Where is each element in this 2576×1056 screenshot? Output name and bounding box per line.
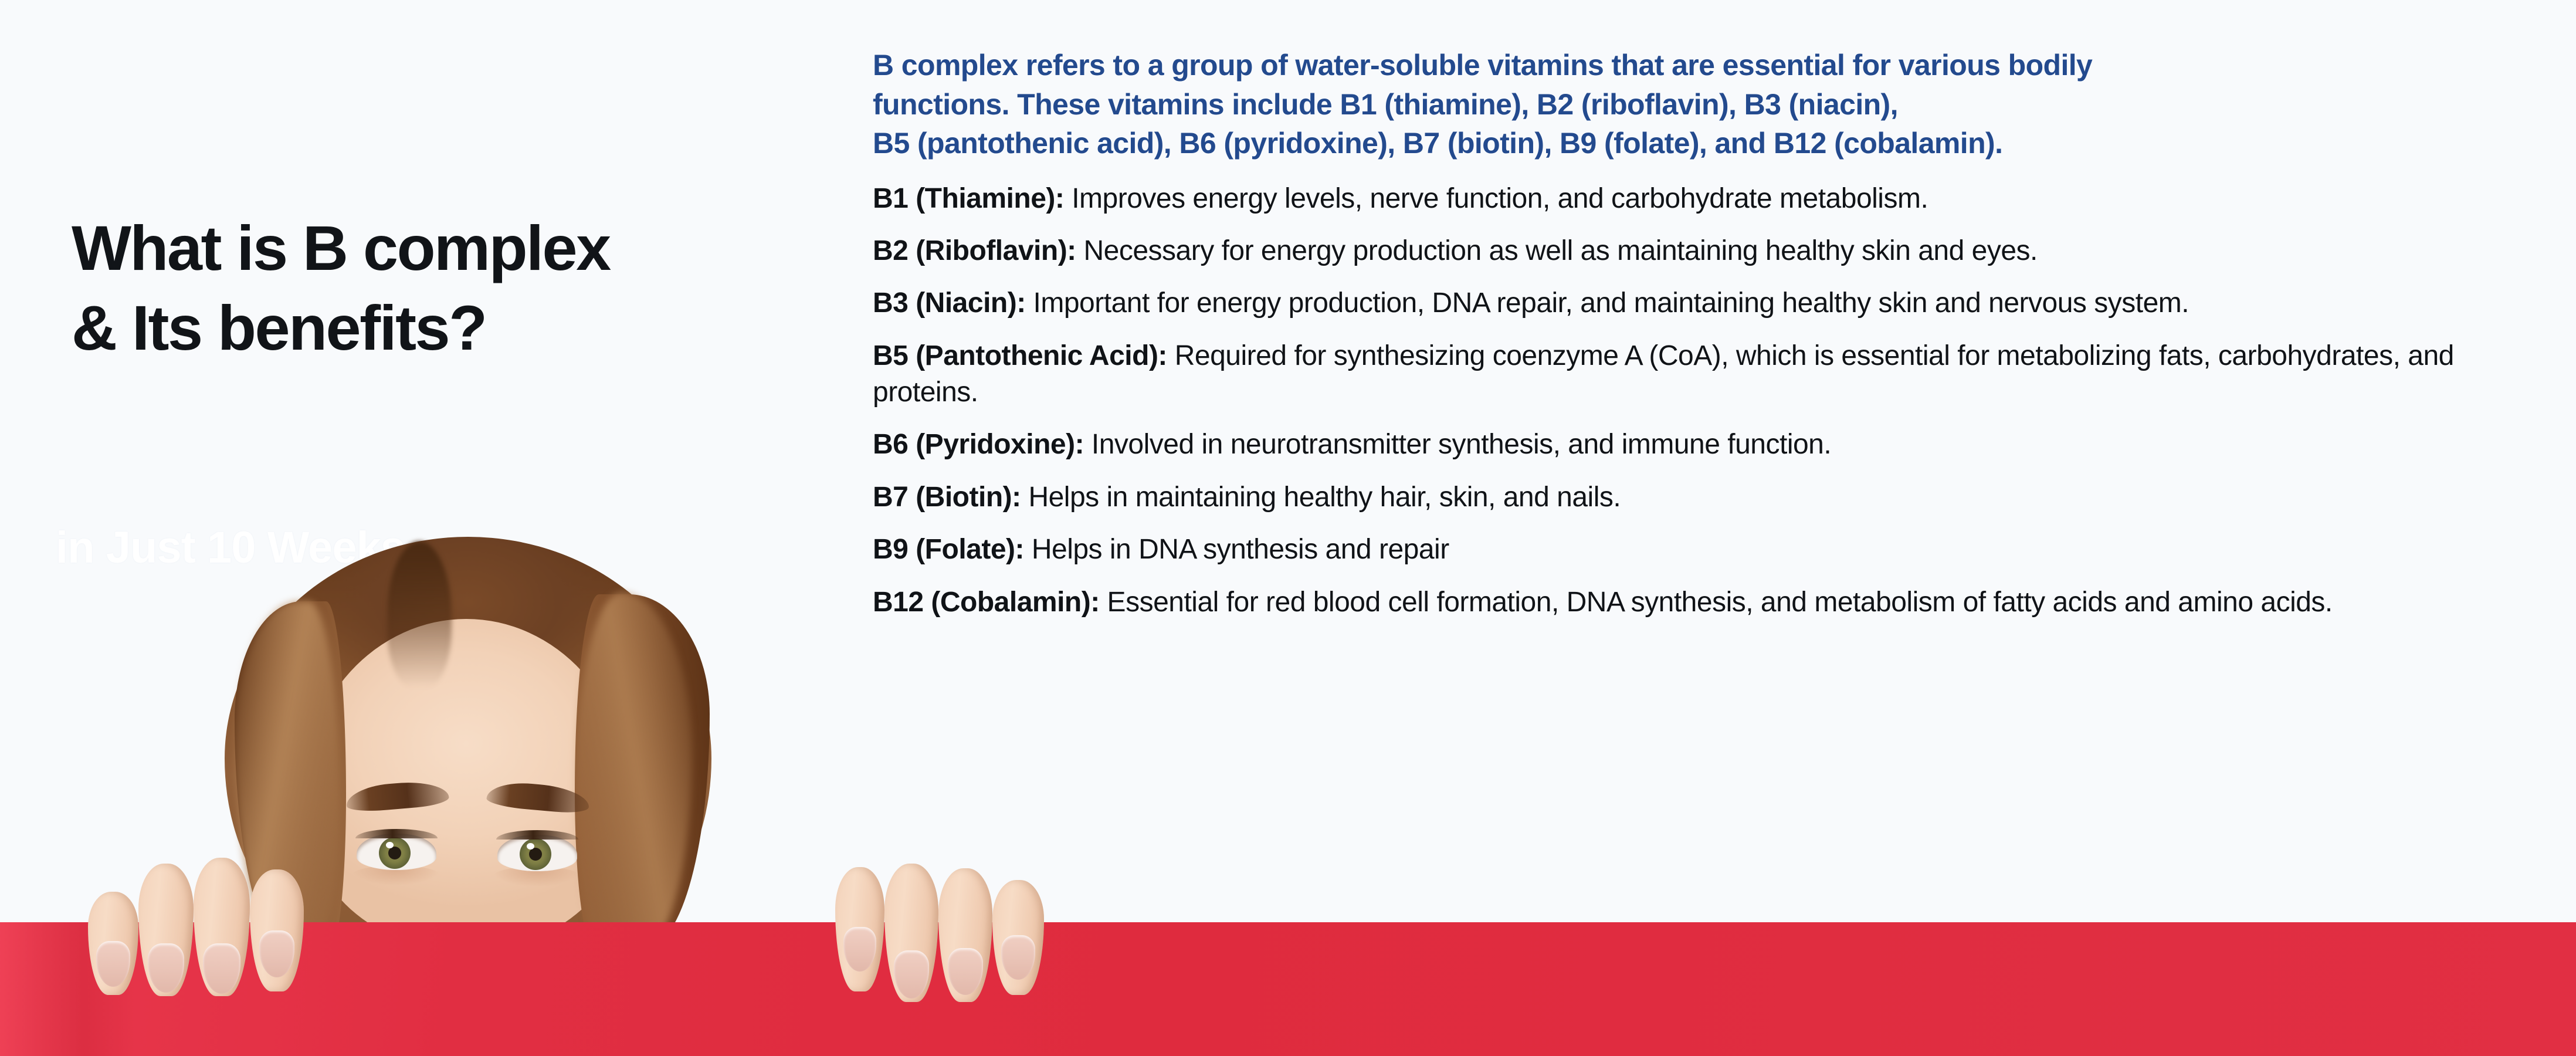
intro-paragraph: B complex refers to a group of water-sol… <box>873 46 2562 163</box>
finger-right-3 <box>938 868 992 1002</box>
benefit-item-b3: B3 (Niacin): Important for energy produc… <box>873 285 2562 321</box>
intro-line-1: B complex refers to a group of water-sol… <box>873 46 2562 85</box>
content-column: B complex refers to a group of water-sol… <box>873 46 2562 637</box>
iris-left <box>379 837 411 869</box>
hair-part <box>387 541 452 688</box>
finger-right-1 <box>835 867 884 991</box>
finger-left-1 <box>88 892 138 995</box>
benefit-term-b9: B9 (Folate): <box>873 534 1024 565</box>
benefit-description-b7: Helps in maintaining healthy hair, skin,… <box>1021 482 1621 513</box>
pupil-right <box>529 848 542 861</box>
fingernail-left-1 <box>96 941 130 987</box>
iris-right <box>520 838 551 870</box>
benefit-item-b6: B6 (Pyridoxine): Involved in neurotransm… <box>873 427 2562 463</box>
fingernail-right-4 <box>1001 935 1035 980</box>
headline-line-2: & Its benefits? <box>72 288 811 368</box>
red-banner <box>0 922 2576 1056</box>
fingernail-left-3 <box>203 943 240 994</box>
benefit-item-b2: B2 (Riboflavin): Necessary for energy pr… <box>873 233 2562 269</box>
benefit-item-b1: B1 (Thiamine): Improves energy levels, n… <box>873 181 2562 217</box>
benefit-description-b1: Improves energy levels, nerve function, … <box>1064 183 1928 214</box>
benefit-term-b1: B1 (Thiamine): <box>873 183 1064 214</box>
eye-left <box>357 834 436 870</box>
finger-left-4 <box>250 869 304 991</box>
hand-left <box>77 849 312 996</box>
eye-glint-left <box>386 842 394 848</box>
benefit-term-b12: B12 (Cobalamin): <box>873 587 1100 618</box>
fingernail-left-2 <box>148 943 184 993</box>
benefit-term-b3: B3 (Niacin): <box>873 287 1026 319</box>
finger-right-2 <box>884 864 938 1002</box>
benefit-description-b9: Helps in DNA synthesis and repair <box>1024 534 1449 565</box>
benefit-item-b7: B7 (Biotin): Helps in maintaining health… <box>873 479 2562 516</box>
benefit-description-b2: Necessary for energy production as well … <box>1076 235 2038 266</box>
benefit-item-b9: B9 (Folate): Helps in DNA synthesis and … <box>873 532 2562 568</box>
fingernail-right-2 <box>894 950 929 999</box>
benefit-term-b7: B7 (Biotin): <box>873 482 1021 513</box>
page-title: What is B complex & Its benefits? <box>72 208 811 368</box>
intro-line-2: functions. These vitamins include B1 (th… <box>873 85 2562 124</box>
benefit-term-b5: B5 (Pantothenic Acid): <box>873 340 1167 371</box>
fingernail-right-1 <box>843 927 876 972</box>
eye-right <box>497 835 577 871</box>
benefit-item-b12: B12 (Cobalamin): Essential for red blood… <box>873 584 2562 621</box>
hand-right <box>832 862 1055 1003</box>
infographic-root: What is B complex & Its benefits? in Jus… <box>0 0 2576 1056</box>
benefit-term-b6: B6 (Pyridoxine): <box>873 429 1084 460</box>
eye-glint-right <box>527 843 534 849</box>
finger-left-3 <box>194 858 250 996</box>
fingernail-right-3 <box>948 948 983 995</box>
finger-right-4 <box>992 880 1044 995</box>
finger-left-2 <box>138 864 194 996</box>
benefit-description-b12: Essential for red blood cell formation, … <box>1100 587 2333 618</box>
intro-line-3: B5 (pantothenic acid), B6 (pyridoxine), … <box>873 124 2562 163</box>
benefit-description-b3: Important for energy production, DNA rep… <box>1026 287 2189 319</box>
benefit-item-b5: B5 (Pantothenic Acid): Required for synt… <box>873 338 2562 411</box>
benefit-description-b6: Involved in neurotransmitter synthesis, … <box>1084 429 1831 460</box>
fingernail-left-4 <box>259 930 294 977</box>
pupil-left <box>388 847 401 859</box>
benefit-term-b2: B2 (Riboflavin): <box>873 235 1076 266</box>
headline-line-1: What is B complex <box>72 208 811 288</box>
